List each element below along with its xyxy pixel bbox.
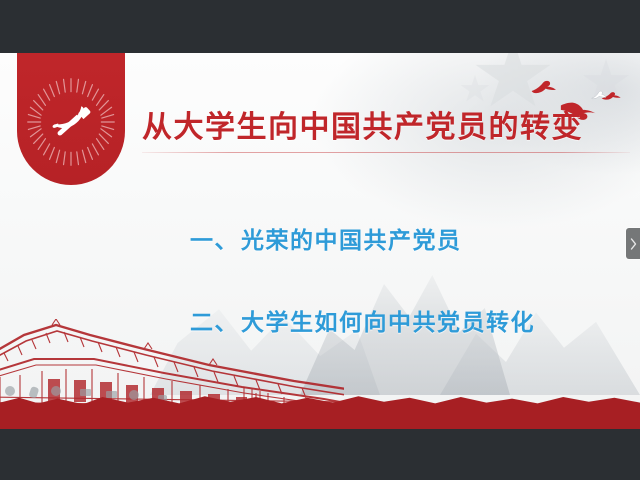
agenda-item-2: 二、大学生如何向中共党员转化 (190, 303, 535, 337)
slide-viewer: 从大学生向中国共产党员的转变 一、光荣的中国共产党员 二、大学生如何向中共党员转… (0, 0, 640, 480)
agenda-item-label: 大学生如何向中共党员转化 (241, 309, 535, 335)
presentation-slide: 从大学生向中国共产党员的转变 一、光荣的中国共产党员 二、大学生如何向中共党员转… (0, 53, 640, 429)
party-emblem-shield (17, 53, 125, 185)
agenda-item-index: 一、 (190, 227, 239, 253)
hammer-sickle-icon (49, 100, 93, 144)
next-slide-button[interactable] (626, 228, 640, 259)
agenda-list: 一、光荣的中国共产党员 二、大学生如何向中共党员转化 (190, 221, 535, 337)
chevron-right-icon (630, 238, 637, 250)
letterbox-top (0, 0, 640, 53)
agenda-item-label: 光荣的中国共产党员 (241, 227, 462, 253)
title-underline (142, 152, 630, 154)
page-title: 从大学生向中国共产党员的转变 (142, 111, 634, 146)
agenda-item-1: 一、光荣的中国共产党员 (190, 221, 535, 255)
letterbox-bottom (0, 429, 640, 480)
agenda-item-index: 二、 (190, 309, 239, 335)
dove-icon (590, 87, 606, 103)
title-block: 从大学生向中国共产党员的转变 (142, 111, 634, 153)
